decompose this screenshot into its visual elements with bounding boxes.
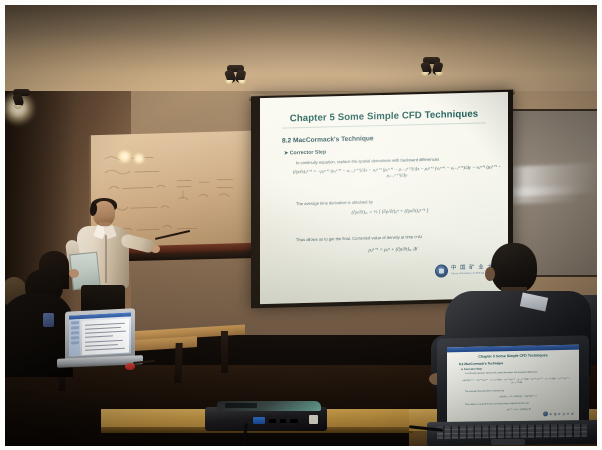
laptop-right-trackpad[interactable]	[491, 439, 525, 445]
mini-equation-1: (∂ρ/∂t)ᵢⱼⁿ⁺¹ = −ρᵢⱼⁿ⁺¹ (uᵢⱼⁿ⁺¹ − uᵢ₋₁ⱼⁿ⁺…	[459, 377, 575, 385]
photo-border-bottom	[0, 446, 602, 450]
sidebar-item	[71, 336, 79, 339]
mini-equation-3: ρᵢⱼⁿ⁺¹ = ρᵢⱼⁿ + (∂ρ/∂t)ₐᵥ Δt	[489, 407, 549, 411]
mini-slide-title: Chapter 5 Some Simple CFD Techniques	[455, 353, 571, 359]
mini-university-logo: 中 国 矿 业 大 学	[543, 411, 574, 417]
mirrored-slide: Chapter 5 Some Simple CFD Techniques 8.2…	[447, 345, 579, 426]
laptop-left-screen	[69, 312, 131, 356]
mini-paragraph-1: In continuity equation, replace the spat…	[465, 371, 573, 376]
photo-border-top	[0, 0, 602, 5]
attendee-ear	[485, 267, 495, 281]
projector-port	[269, 419, 276, 423]
attendee-head	[491, 243, 537, 293]
classroom-scene: Chapter 5 Some Simple CFD Techniques 8.2…	[5, 5, 597, 446]
projector-vga-port	[253, 417, 265, 424]
text-line	[85, 323, 125, 326]
sidebar-item	[71, 326, 79, 329]
desk-leg	[221, 331, 228, 373]
screen-light-falloff	[260, 92, 508, 304]
text-line	[85, 327, 121, 330]
document-pane	[82, 318, 129, 354]
desk-leg	[174, 343, 182, 383]
text-line	[85, 331, 126, 334]
sidebar-item	[71, 321, 79, 324]
university-name-chinese: 中 国 矿 业 大 学	[550, 411, 575, 416]
mini-paragraph-2: The average time derivative is obtained …	[465, 389, 561, 394]
text-line	[85, 348, 125, 351]
university-seal-icon	[543, 411, 548, 416]
photo-border-left	[0, 0, 5, 450]
text-line	[85, 335, 113, 338]
presenter-shirt-placket	[105, 235, 107, 283]
projector-port	[280, 419, 286, 423]
mini-slide-section: 8.2 MacCormack's Technique	[459, 361, 503, 366]
projector[interactable]	[205, 401, 327, 431]
laptop-right-keyboard[interactable]	[437, 424, 587, 439]
laptop-right-screen: Chapter 5 Some Simple CFD Techniques 8.2…	[447, 345, 579, 426]
presenter-hand-right	[151, 245, 160, 253]
attendee-badge	[43, 313, 54, 327]
text-line	[85, 344, 118, 347]
projector-port	[290, 419, 298, 423]
projector-label	[309, 415, 318, 424]
text-line	[85, 340, 123, 343]
sidebar-item	[71, 341, 79, 344]
mini-paragraph-3: Thus allows us to get the final, Correct…	[465, 402, 573, 407]
photo-border-right	[597, 0, 602, 450]
sidebar-item	[71, 331, 79, 334]
mini-equation-2: (∂ρ/∂t)ₐᵥ = ½ [ (∂ρ/∂t)ᵢⱼⁿ + (∂ρ/∂t)ᵢⱼⁿ⁺…	[485, 394, 551, 398]
photograph: Chapter 5 Some Simple CFD Techniques 8.2…	[0, 0, 602, 450]
projection-screen: Chapter 5 Some Simple CFD Techniques 8.2…	[260, 92, 508, 304]
whiteboard-lamp-reflection	[133, 153, 145, 164]
presenter-hand-left	[69, 269, 79, 278]
projector-vent	[225, 403, 257, 408]
mini-slide-bullet: ➤ Corrector Step	[461, 368, 482, 371]
whiteboard-lamp-reflection	[117, 150, 132, 163]
